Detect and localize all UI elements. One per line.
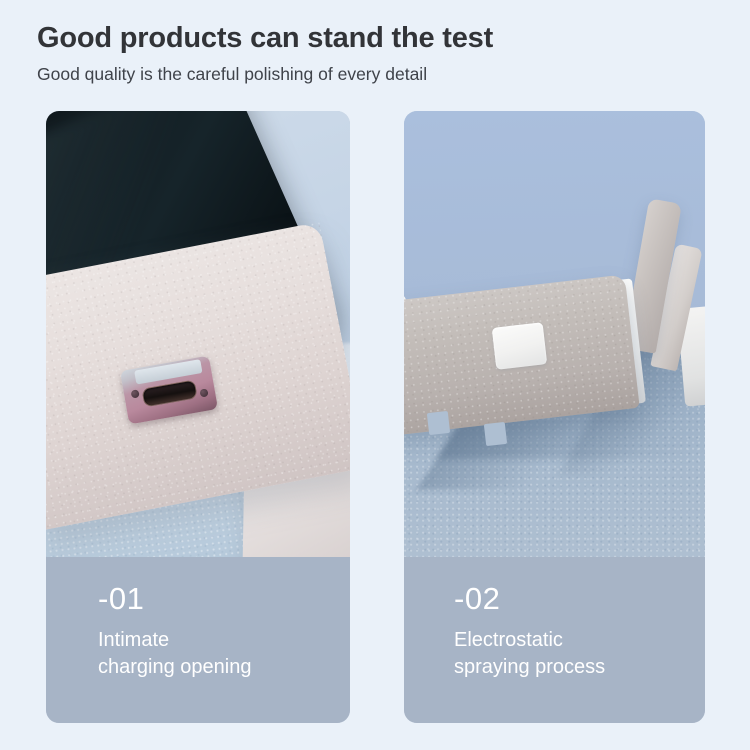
- feature-photo-02: [404, 111, 705, 557]
- feature-card-list: -01 Intimate charging opening: [46, 111, 705, 723]
- feature-card-02[interactable]: -02 Electrostatic spraying process: [404, 111, 705, 723]
- feature-caption-02: -02 Electrostatic spraying process: [404, 557, 705, 723]
- feature-photo-01: [46, 111, 350, 557]
- product-feature-page: Good products can stand the test Good qu…: [0, 0, 750, 750]
- feature-title-line-2: charging opening: [98, 654, 350, 681]
- feature-caption-01: -01 Intimate charging opening: [46, 557, 350, 723]
- white-label-patch: [492, 322, 548, 370]
- feature-card-01[interactable]: -01 Intimate charging opening: [46, 111, 350, 723]
- feature-number: -02: [454, 583, 705, 614]
- feature-title-line-2: spraying process: [454, 654, 705, 681]
- feature-title-line-1: Intimate: [98, 627, 350, 654]
- page-subtitle: Good quality is the careful polishing of…: [37, 64, 717, 85]
- page-title: Good products can stand the test: [37, 22, 717, 55]
- page-header: Good products can stand the test Good qu…: [37, 22, 717, 85]
- feature-number: -01: [98, 583, 350, 614]
- feature-title-line-1: Electrostatic: [454, 627, 705, 654]
- body-notch: [427, 411, 450, 436]
- body-notch: [484, 422, 507, 447]
